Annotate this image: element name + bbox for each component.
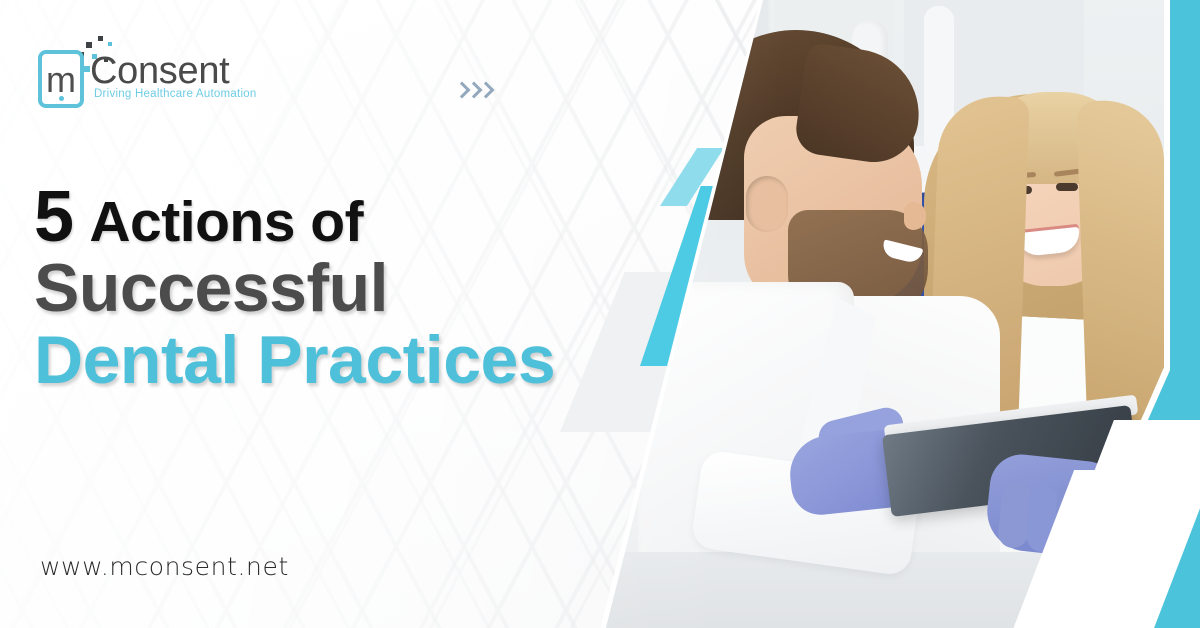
headline-block: 5 Actions of Successful Dental Practices [34,186,594,399]
logo-tagline: Driving Healthcare Automation [94,88,257,100]
headline-line-3: Dental Practices [34,321,594,399]
chevron-right-icon [480,82,491,102]
logo-pixel-1 [86,42,92,48]
chevron-right-icon [468,82,479,102]
chevron-group [456,82,491,102]
logo-wordmark: Consent [90,50,229,92]
banner-canvas: m Consent Driving Healthcare Automation … [0,0,1200,628]
headline-number: 5 [34,177,74,257]
brand-logo[interactable]: m Consent Driving Healthcare Automation [34,36,266,108]
logo-pixel-2 [98,36,103,41]
headline-line-1: 5 Actions of [34,186,594,253]
website-url[interactable]: www.mconsent.net [40,552,289,581]
chevron-right-icon [456,82,467,102]
headline-line-2: Successful [34,249,594,327]
logo-letter-m: m [38,60,84,100]
headline-line-1-text: Actions of [89,190,363,254]
logo-pixel-3 [108,42,112,46]
